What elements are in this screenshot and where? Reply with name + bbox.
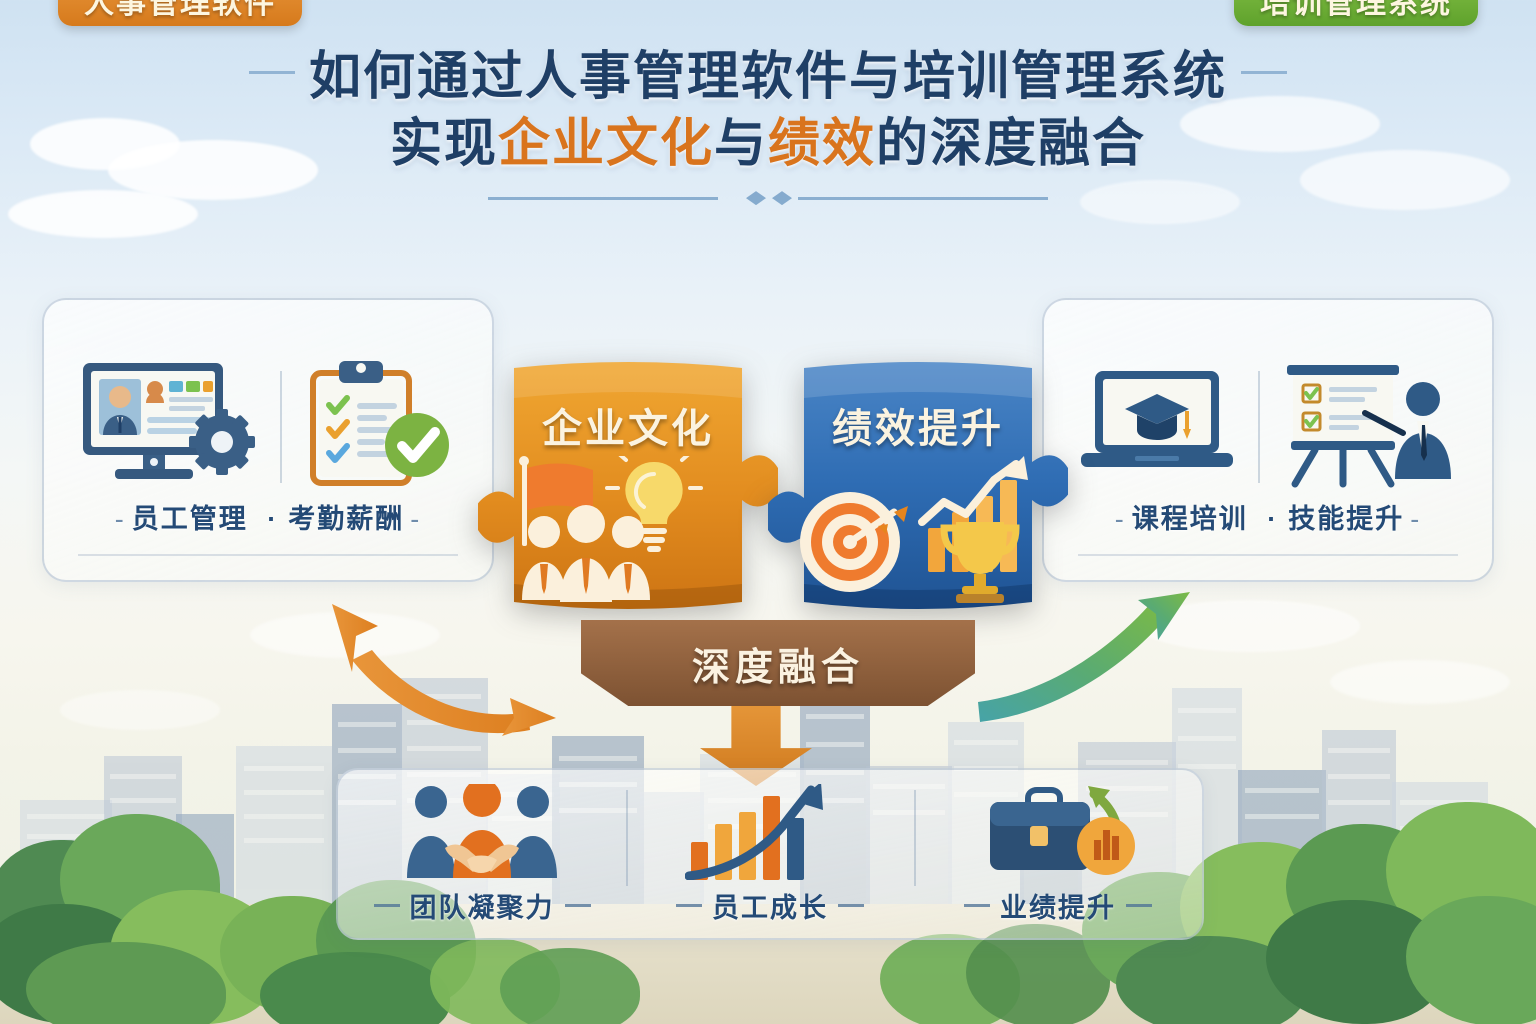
title-line-2: 实现企业文化与绩效的深度融合 xyxy=(0,111,1536,178)
clipboard-checklist-icon xyxy=(307,359,457,496)
panel-icon-divider xyxy=(1258,371,1260,483)
team-people-icon xyxy=(522,505,650,602)
badge-training-system[interactable]: 培训管理系统 xyxy=(1234,0,1478,26)
panel-training-system: -课程培训 ·技能提升- xyxy=(1042,298,1494,582)
performance-icons xyxy=(768,456,1068,606)
title-divider xyxy=(488,191,1048,205)
puzzle-piece-culture[interactable]: 企业文化 xyxy=(478,358,778,636)
panel-outcomes: 团队凝聚力 员工成长 xyxy=(336,768,1204,940)
presentation-board-icon xyxy=(1281,359,1459,496)
team-handshake-icon xyxy=(387,784,577,880)
panel-underline xyxy=(1078,554,1458,556)
fusion-label: 深度融合 xyxy=(581,620,975,706)
green-check-icon xyxy=(385,413,449,477)
training-panel-caption: -课程培训 ·技能提升- xyxy=(1044,497,1492,536)
fusion-banner: 深度融合 xyxy=(581,620,975,706)
outcome-label: 业绩提升 xyxy=(964,886,1152,925)
panel-hr-software: -员工管理 ·考勤薪酬- xyxy=(42,298,494,582)
briefcase-pie-chart-icon xyxy=(968,784,1148,880)
monitor-employee-profile-icon xyxy=(79,359,255,496)
puzzle-group: 企业文化 xyxy=(478,358,1078,636)
title-rule-left xyxy=(249,71,295,74)
gear-icon xyxy=(189,409,255,475)
diamond-icon xyxy=(746,191,766,205)
rising-chart-arrow-icon xyxy=(685,784,855,880)
page-title: 如何通过人事管理软件与培训管理系统 实现企业文化与绩效的深度融合 xyxy=(0,44,1536,205)
title-line-1: 如何通过人事管理软件与培训管理系统 xyxy=(0,44,1536,111)
outcome-item-team-cohesion[interactable]: 团队凝聚力 xyxy=(338,770,626,938)
puzzle-piece-performance[interactable]: 绩效提升 xyxy=(768,358,1068,636)
laptop-graduation-cap-icon xyxy=(1077,365,1237,490)
outcome-item-business-performance[interactable]: 业绩提升 xyxy=(914,770,1202,938)
outcome-item-employee-growth[interactable]: 员工成长 xyxy=(626,770,914,938)
hr-icon-row xyxy=(66,352,470,502)
badge-hr-software[interactable]: 人事管理软件 xyxy=(58,0,302,26)
performance-label: 绩效提升 xyxy=(768,396,1068,454)
panel-icon-divider xyxy=(280,371,282,483)
target-dart-icon xyxy=(800,492,908,592)
title-highlight-culture: 企业文化 xyxy=(498,115,714,173)
culture-icons xyxy=(478,456,778,606)
tree-icon xyxy=(1266,784,1536,1024)
title-rule-right xyxy=(1241,71,1287,74)
panel-underline xyxy=(78,554,458,556)
diamond-icon xyxy=(772,191,792,205)
culture-label: 企业文化 xyxy=(478,396,778,454)
training-icon-row xyxy=(1066,352,1470,502)
title-highlight-performance: 绩效 xyxy=(768,115,876,173)
outcome-label: 团队凝聚力 xyxy=(374,886,591,925)
outcome-label: 员工成长 xyxy=(676,886,864,925)
hr-panel-caption: -员工管理 ·考勤薪酬- xyxy=(44,497,492,536)
